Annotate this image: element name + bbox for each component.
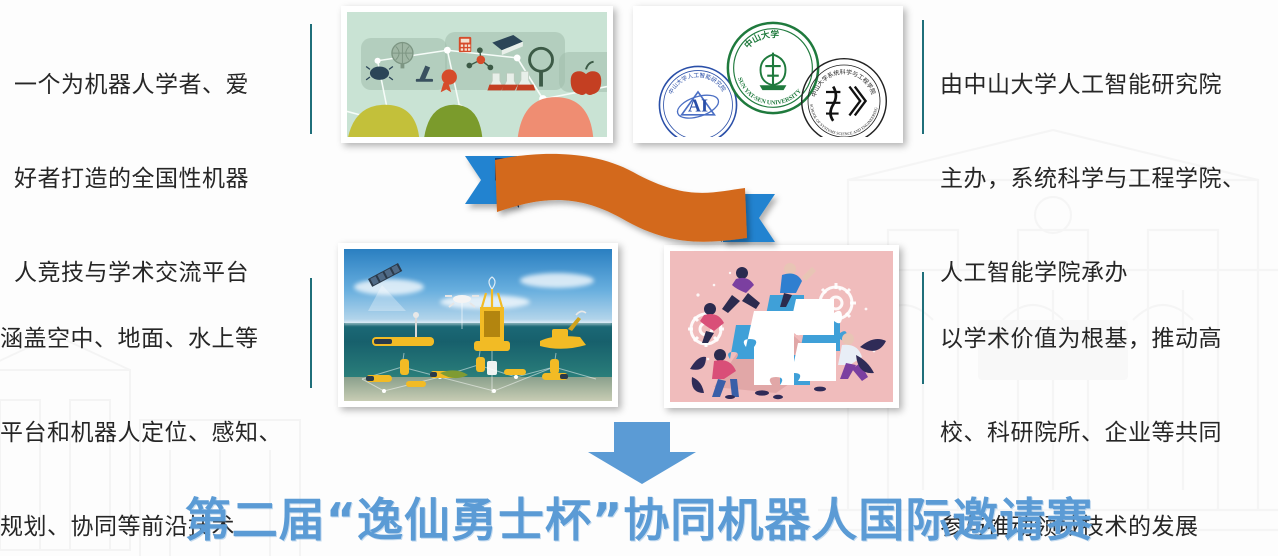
text-top-right-line-1: 由中山大学人工智能研究院 <box>940 61 1270 108</box>
text-top-right-line-2: 主办，系统科学与工程学院、 <box>940 155 1270 202</box>
text-top-left-line-2: 好者打造的全国性机器 <box>14 155 296 202</box>
image-university-logos: AI 中山大学人工智能研究院 中山大学 SUN YAT-SEN <box>633 6 903 143</box>
text-bottom-left-line-2: 平台和机器人定位、感知、 <box>0 409 300 456</box>
page-title: 第二届“逸仙勇士杯”协同机器人国际邀请赛 <box>0 484 1278 550</box>
seal-systems-science-engineering: 中山大学系统科学与工程学院 SCHOOL OF SYSTEMS SCIENCE … <box>799 56 889 137</box>
slide-canvas: 一个为机器人学者、爱 好者打造的全国性机器 人竞技与学术交流平台 涵盖空中、地面… <box>0 0 1278 556</box>
orange-s-ribbon-arrow <box>455 146 785 252</box>
head-silhouettes <box>347 12 607 137</box>
svg-text:中山大学系统科学与工程学院: 中山大学系统科学与工程学院 <box>810 68 878 98</box>
title-banner: 第二届“逸仙勇士杯”协同机器人国际邀请赛 <box>0 474 1278 556</box>
text-top-left-line-1: 一个为机器人学者、爱 <box>14 61 296 108</box>
divider-top-right <box>922 20 924 134</box>
image-teamwork-puzzle <box>664 245 899 408</box>
teamwork-scene <box>670 251 893 402</box>
svg-text:SCHOOL OF SYSTEMS SCIENCE AND: SCHOOL OF SYSTEMS SCIENCE AND ENGINEERIN… <box>809 104 879 137</box>
image-marine-robotics <box>338 243 618 407</box>
svg-text:AI: AI <box>688 96 708 116</box>
image-education-science <box>341 6 613 143</box>
divider-bottom-right <box>922 272 924 384</box>
marine-scene <box>344 249 612 401</box>
text-bottom-left-line-1: 涵盖空中、地面、水上等 <box>0 315 300 362</box>
text-bottom-right-line-2: 校、科研院所、企业等共同 <box>940 409 1270 456</box>
text-bottom-right-line-1: 以学术价值为根基，推动高 <box>940 315 1270 362</box>
divider-bottom-left <box>310 278 312 388</box>
divider-top-left <box>310 24 312 134</box>
